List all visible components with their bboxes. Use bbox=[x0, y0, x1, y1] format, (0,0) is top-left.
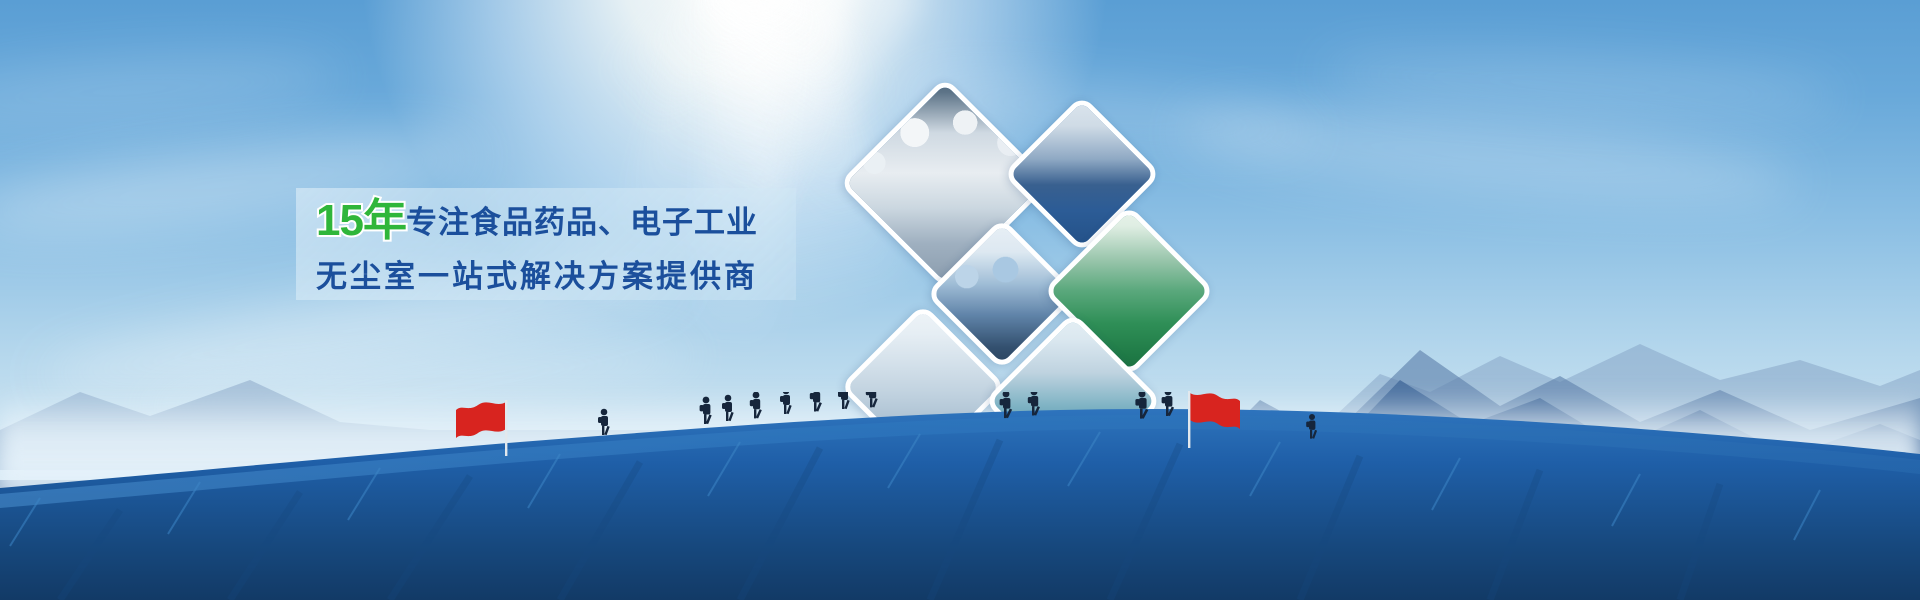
climber bbox=[1306, 414, 1317, 439]
headline-line-2-text: 无尘室一站式解决方案提供商 bbox=[316, 259, 758, 294]
climber bbox=[810, 392, 822, 412]
climber bbox=[1028, 392, 1040, 416]
hero-banner: 15年专注食品药品、电子工业 无尘室一站式解决方案提供商 bbox=[0, 0, 1920, 600]
years-highlight: 15年 bbox=[316, 196, 406, 245]
climber bbox=[1135, 392, 1148, 419]
climber bbox=[866, 392, 878, 408]
headline-line-1-text: 专注食品药品、电子工业 bbox=[406, 205, 758, 240]
climber bbox=[598, 409, 610, 435]
climber bbox=[700, 397, 712, 425]
climber bbox=[722, 395, 734, 421]
climber bbox=[838, 392, 850, 409]
headline-line-2: 无尘室一站式解决方案提供商 bbox=[316, 254, 786, 306]
climber bbox=[1162, 392, 1174, 416]
climber-group bbox=[560, 392, 1380, 452]
summit-flag-left bbox=[452, 398, 514, 456]
climber bbox=[750, 392, 762, 419]
headline-line-1: 15年专注食品药品、电子工业 bbox=[316, 198, 786, 252]
climber bbox=[780, 392, 792, 414]
climber bbox=[1000, 392, 1013, 418]
headline: 15年专注食品药品、电子工业 无尘室一站式解决方案提供商 bbox=[316, 198, 786, 306]
